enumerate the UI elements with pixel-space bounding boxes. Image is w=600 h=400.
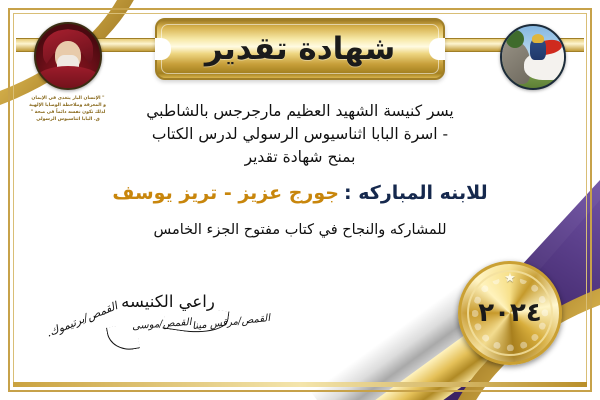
icon-tree bbox=[506, 30, 524, 48]
recipient-line: للابنه المباركه : جورج عزيز - تريز يوسف bbox=[0, 182, 600, 204]
recipient-name: جورج عزيز - تريز يوسف bbox=[112, 182, 339, 204]
banner-notch-left bbox=[155, 38, 171, 60]
body-line-2: - اسرة البابا اثناسيوس الرسولي لدرس الكت… bbox=[0, 123, 600, 146]
award-reason: للمشاركه والنجاح في كتاب مفتوح الجزء الخ… bbox=[0, 222, 600, 238]
seal-year: ٢٠٢٤ bbox=[478, 298, 541, 328]
recipient-label: للابنه المباركه : bbox=[344, 182, 488, 204]
saint-george-icon bbox=[500, 24, 566, 90]
signature-block: راعي الكنيسه القمص/مرقس مينا القمص/موسى … bbox=[48, 292, 288, 349]
portrait-shoulders bbox=[36, 66, 100, 90]
frame-base-bar bbox=[13, 382, 587, 387]
banner-notch-right bbox=[429, 38, 445, 60]
signature-marks: القمص/مرقس مينا القمص/موسى القمص/برتيموك… bbox=[48, 305, 288, 349]
body-line-1: يسر كنيسة الشهيد العظيم مارجرجس بالشاطبي bbox=[0, 100, 600, 123]
title-banner: شهادة تقدير bbox=[155, 18, 445, 80]
certificate-canvas: شهادة تقدير " الإنسان البار يتغذى في الإ… bbox=[0, 0, 600, 400]
gold-seal: ★ ٢٠٢٤ bbox=[458, 261, 562, 365]
body-text-block: يسر كنيسة الشهيد العظيم مارجرجس بالشاطبي… bbox=[0, 100, 600, 168]
star-icon: ★ bbox=[504, 271, 516, 286]
certificate-title: شهادة تقدير bbox=[205, 31, 395, 67]
saint-icon-block bbox=[494, 24, 566, 96]
body-line-3: بمنح شهادة تقدير bbox=[0, 146, 600, 169]
icon-helmet bbox=[532, 34, 544, 43]
pope-athanasius-portrait bbox=[34, 22, 102, 90]
